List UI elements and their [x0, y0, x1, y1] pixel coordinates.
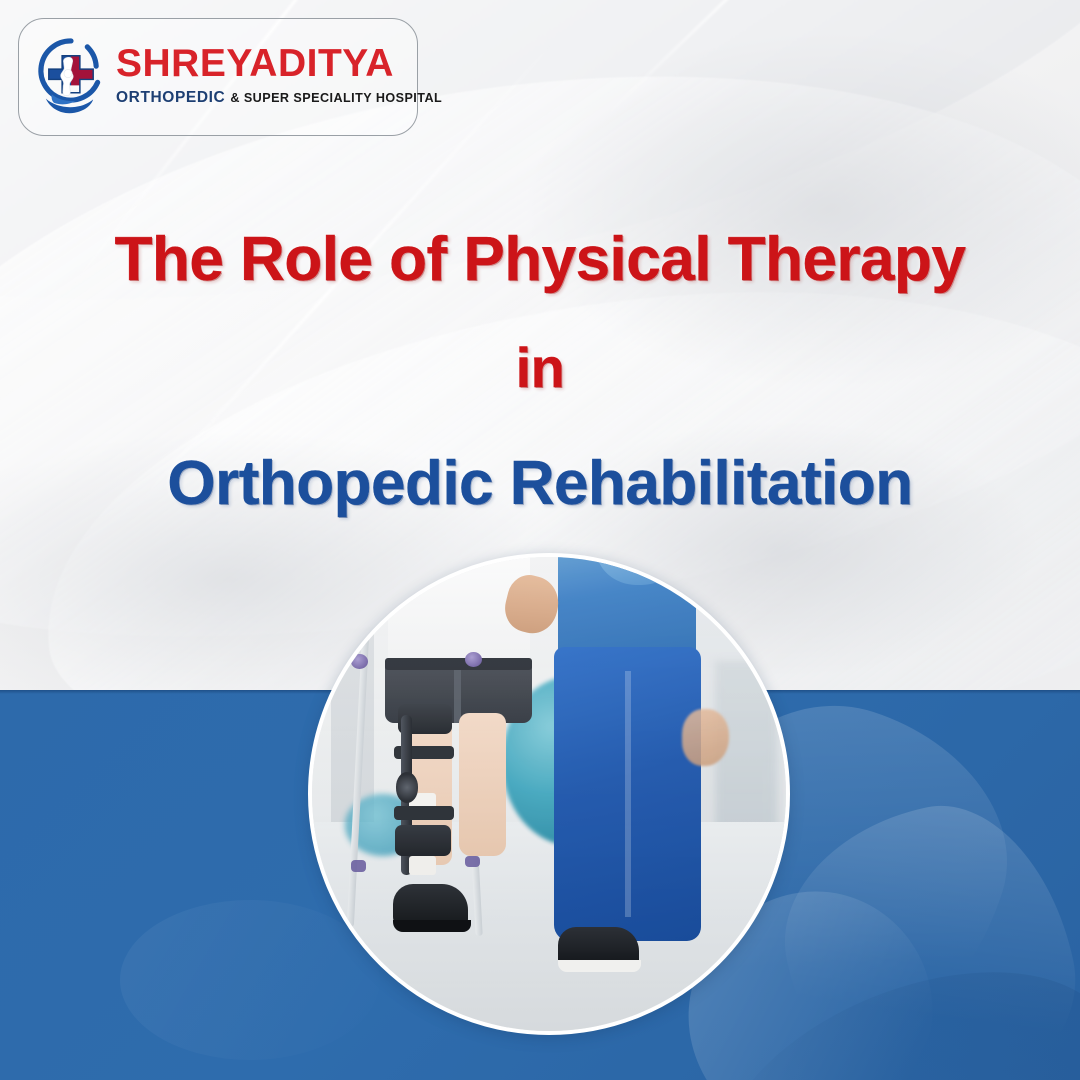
knee-brace-liner-lower — [409, 856, 437, 875]
knee-brace-hinge — [396, 772, 419, 802]
hero-photo — [312, 557, 786, 1031]
orthopedic-cross-knee-circle-icon — [34, 36, 108, 114]
headline-block: The Role of Physical Therapy in Orthoped… — [0, 228, 1080, 516]
photo-crutch-grip-right — [465, 652, 482, 667]
brand-wordmark: SHREYADITYA ORTHOPEDIC & SUPER SPECIALIT… — [116, 44, 442, 106]
brand-logo: SHREYADITYA ORTHOPEDIC & SUPER SPECIALIT… — [34, 36, 442, 114]
headline-line-3: Orthopedic Rehabilitation — [0, 452, 1080, 515]
headline-line-2: in — [0, 339, 1080, 396]
photo-therapist-seam — [625, 671, 631, 917]
social-post-canvas: SHREYADITYA ORTHOPEDIC & SUPER SPECIALIT… — [0, 0, 1080, 1080]
knee-brace-lower-pad — [395, 825, 451, 855]
photo-knee-brace — [393, 704, 459, 894]
hero-photo-circle — [308, 553, 790, 1035]
brand-tagline: ORTHOPEDIC & SUPER SPECIALITY HOSPITAL — [116, 90, 442, 106]
headline-line-1: The Role of Physical Therapy — [0, 228, 1080, 291]
photo-patient-shoe-sole — [393, 920, 471, 932]
photo-patient-waistband — [385, 658, 532, 669]
brand-tagline-secondary: & SUPER SPECIALITY HOSPITAL — [230, 92, 442, 105]
photo-therapist-shoe-sole — [558, 960, 641, 972]
brand-name: SHREYADITYA — [116, 44, 442, 83]
knee-brace-strap-lower — [394, 806, 454, 819]
brand-tagline-primary: ORTHOPEDIC — [116, 90, 225, 106]
photo-crutch-clip-left — [351, 860, 366, 871]
photo-crutch-clip-right — [465, 856, 480, 867]
photo-therapist-hand-right — [682, 709, 729, 766]
photo-patient-leg-right — [459, 713, 506, 855]
